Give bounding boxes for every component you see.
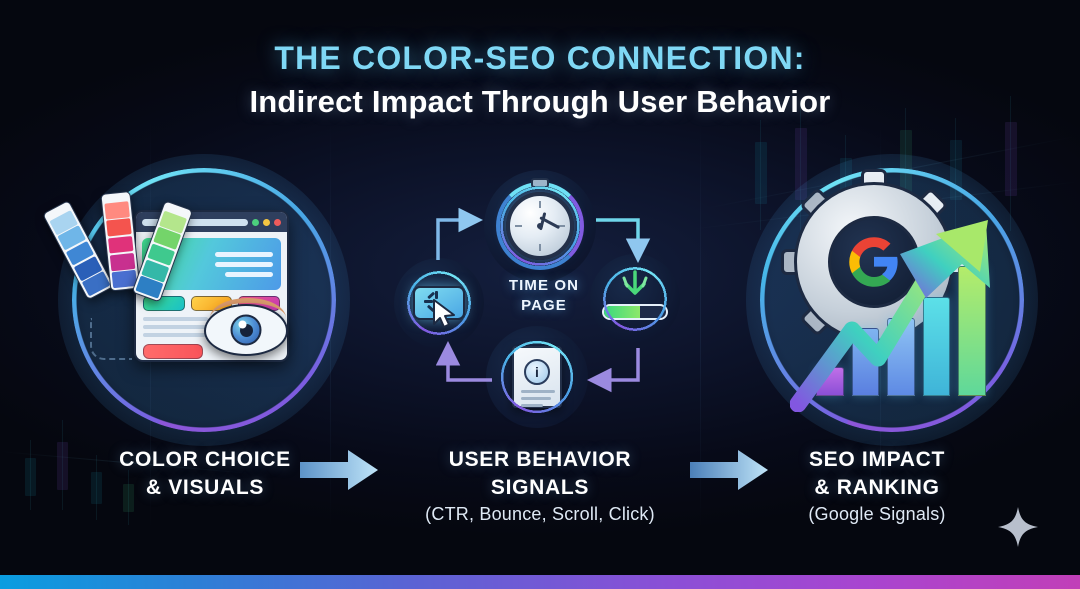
dashed-guide bbox=[90, 318, 132, 360]
label-user-behavior: USER BEHAVIOR SIGNALS (CTR, Bounce, Scro… bbox=[370, 446, 710, 525]
infographic-canvas: THE COLOR-SEO CONNECTION: Indirect Impac… bbox=[0, 0, 1080, 589]
label-line2: SIGNALS bbox=[370, 474, 710, 502]
mock-cta-button bbox=[143, 344, 203, 359]
swatch-green bbox=[132, 200, 194, 302]
four-point-star-icon bbox=[998, 507, 1038, 547]
label-line1: SEO IMPACT bbox=[712, 446, 1042, 474]
page-subtitle: Indirect Impact Through User Behavior bbox=[0, 84, 1080, 120]
bottom-accent-bar bbox=[0, 575, 1080, 589]
cycle-arrows bbox=[400, 172, 688, 428]
panel-color-choice[interactable] bbox=[72, 168, 336, 432]
label-sublabel: (CTR, Bounce, Scroll, Click) bbox=[370, 504, 710, 525]
window-dot-red bbox=[274, 219, 281, 226]
eye-glint bbox=[239, 321, 247, 329]
label-line2: & RANKING bbox=[712, 474, 1042, 502]
panel-seo-impact[interactable] bbox=[760, 168, 1024, 432]
color-swatch-fan bbox=[78, 192, 188, 312]
label-seo-impact: SEO IMPACT & RANKING (Google Signals) bbox=[712, 446, 1042, 525]
label-line2: & VISUALS bbox=[40, 474, 370, 502]
page-title: THE COLOR-SEO CONNECTION: bbox=[0, 40, 1080, 77]
color-palette-website-eye-icon bbox=[72, 168, 336, 432]
up-arrow bbox=[790, 212, 1000, 412]
gear-google-bar-chart-icon bbox=[760, 168, 1024, 432]
label-sublabel: (Google Signals) bbox=[712, 504, 1042, 525]
header: THE COLOR-SEO CONNECTION: Indirect Impac… bbox=[0, 40, 1080, 119]
window-dot-green bbox=[252, 219, 259, 226]
iris bbox=[231, 315, 262, 346]
eye-icon bbox=[204, 304, 288, 356]
label-line1: COLOR CHOICE bbox=[40, 446, 370, 474]
panel-labels: COLOR CHOICE & VISUALS USER BEHAVIOR SIG… bbox=[0, 446, 1080, 546]
window-dot-yellow bbox=[263, 219, 270, 226]
label-line1: USER BEHAVIOR bbox=[370, 446, 710, 474]
label-color-choice: COLOR CHOICE & VISUALS bbox=[40, 446, 370, 501]
user-behavior-cycle-icon[interactable]: i TIME ON PAGE bbox=[400, 172, 688, 428]
